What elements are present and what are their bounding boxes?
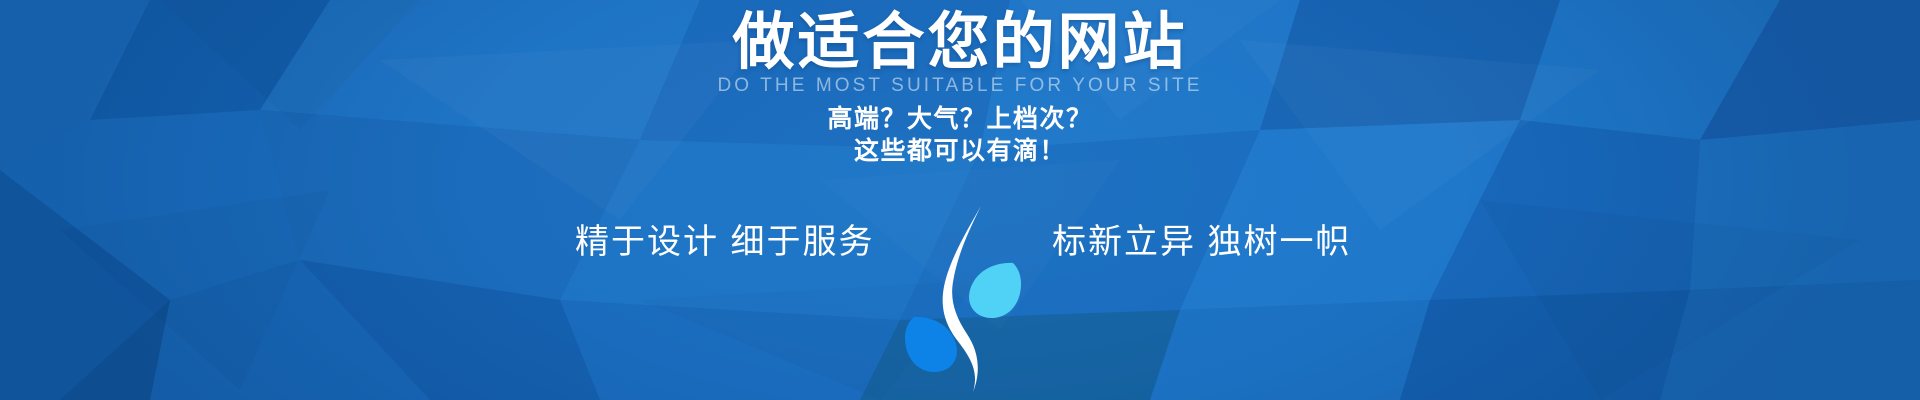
pitch-line-1: 高端？大气？上档次？ (0, 103, 1920, 135)
hero-banner: 做适合您的网站 DO THE MOST SUITABLE FOR YOUR SI… (0, 0, 1920, 400)
leaf-swirl-logo-icon (895, 200, 1025, 400)
pitch-text-block: 高端？大气？上档次？ 这些都可以有滴！ (0, 103, 1920, 167)
page-subtitle-english: DO THE MOST SUITABLE FOR YOUR SITE (0, 74, 1920, 98)
tagline-right: 标新立异 独树一帜 (1052, 218, 1351, 266)
page-title: 做适合您的网站 (0, 8, 1920, 78)
logo-leaf-upper (969, 263, 1021, 318)
pitch-line-2: 这些都可以有滴！ (0, 135, 1920, 167)
tagline-left: 精于设计 细于服务 (575, 218, 874, 266)
